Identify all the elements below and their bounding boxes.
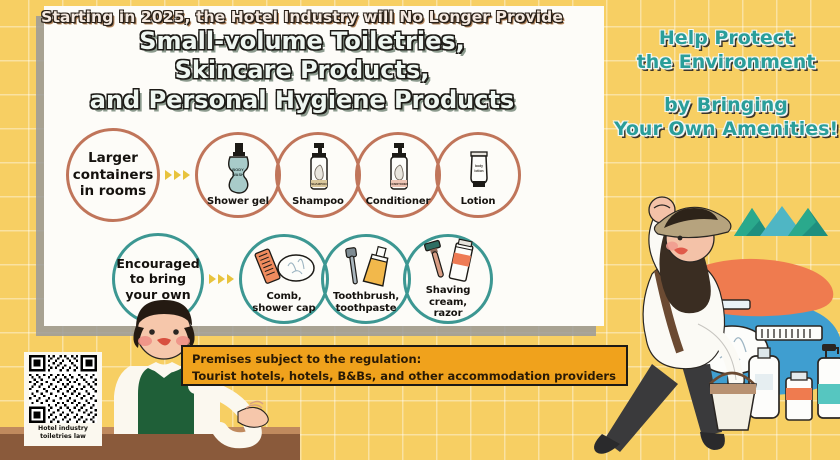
item-caption-line: toothpaste <box>333 303 399 315</box>
byo-label-line-2: to bring <box>116 271 199 286</box>
arrow-group-2 <box>209 274 234 284</box>
qr-caption-line: Hotel industry <box>27 425 99 433</box>
item-caption: Shampoo <box>292 196 344 208</box>
svg-text:SHAMPOO: SHAMPOO <box>311 182 327 186</box>
svg-text:body: body <box>475 164 483 168</box>
headline: Small-volume Toiletries, Skincare Produc… <box>0 27 604 115</box>
qr-caption: Hotel industry toiletries law <box>27 425 99 441</box>
item-caption-line: razor <box>406 308 490 320</box>
svg-text:CONDITIONER: CONDITIONER <box>390 182 408 186</box>
pump-bottle-white-icon: CONDITIONER <box>382 143 414 193</box>
item-circle-toothbrush: Toothbrush, toothpaste <box>321 234 411 324</box>
headline-line-2: Skincare Products, <box>0 56 604 85</box>
pump-bottle-white-icon: SHAMPOO <box>302 143 334 193</box>
headline-line-3: and Personal Hygiene Products <box>0 86 604 115</box>
kicker-text: Starting in 2025, the Hotel Industry wil… <box>0 8 604 26</box>
item-circle-shampoo: SHAMPOO Shampoo <box>275 132 361 218</box>
arrow-icon <box>183 170 190 180</box>
poster: Starting in 2025, the Hotel Industry wil… <box>0 0 840 460</box>
pump-bottle-teal-icon: BODY WASH <box>222 143 254 193</box>
arrow-icon <box>209 274 216 284</box>
hero-line-3: by Bringing <box>612 93 840 117</box>
item-circle-shower-gel: BODY WASH Shower gel <box>195 132 281 218</box>
larger-label-line-1: Larger <box>73 150 154 166</box>
byo-label-line-1: Encouraged <box>116 256 199 271</box>
item-circle-shaving: Shaving cream, razor <box>403 234 493 324</box>
qr-caption-line: toiletries law <box>27 433 99 441</box>
svg-text:WASH: WASH <box>232 172 244 177</box>
razor-shaving-cream-icon <box>417 238 479 282</box>
larger-label-line-2: containers <box>73 167 154 183</box>
item-caption: Conditioner <box>366 196 431 208</box>
headline-line-1: Small-volume Toiletries, <box>0 27 604 56</box>
svg-text:lotion: lotion <box>474 169 483 173</box>
item-caption: Lotion <box>461 196 496 208</box>
item-caption: Shaving cream, razor <box>406 285 490 320</box>
toothbrush-toothpaste-icon <box>337 244 395 288</box>
item-caption-line: Toothbrush, <box>333 291 399 303</box>
banner-line-2: Tourist hotels, hotels, B&Bs, and other … <box>192 368 617 385</box>
running-person-illustration <box>586 188 840 460</box>
hero-text: Help Protect the Environment by Bringing… <box>612 26 840 141</box>
qr-code-block[interactable]: Hotel industry toiletries law <box>24 352 102 446</box>
larger-label-line-3: in rooms <box>73 183 154 199</box>
hero-line-1: Help Protect <box>612 26 840 50</box>
arrow-icon <box>218 274 225 284</box>
comb-shower-cap-icon <box>252 244 316 288</box>
arrow-icon <box>165 170 172 180</box>
hero-line-2: the Environment <box>612 50 840 74</box>
lotion-tube-icon: body lotion <box>462 143 494 193</box>
hero-line-4: Your Own Amenities! <box>612 117 840 141</box>
row-larger-containers: Larger containers in rooms BODY WASH <box>66 128 521 222</box>
arrow-group-1 <box>165 170 190 180</box>
banner-line-1: Premises subject to the regulation: <box>192 351 617 368</box>
item-circle-lotion: body lotion Lotion <box>435 132 521 218</box>
arrow-icon <box>227 274 234 284</box>
label-circle-larger-containers: Larger containers in rooms <box>66 128 160 222</box>
qr-code-icon[interactable] <box>27 355 99 423</box>
arrow-icon <box>174 170 181 180</box>
regulation-banner: Premises subject to the regulation: Tour… <box>181 345 628 386</box>
item-caption: Toothbrush, toothpaste <box>333 291 399 315</box>
item-caption: Shower gel <box>207 196 269 208</box>
item-circle-conditioner: CONDITIONER Conditioner <box>355 132 441 218</box>
item-caption-line: Shaving cream, <box>406 285 490 309</box>
